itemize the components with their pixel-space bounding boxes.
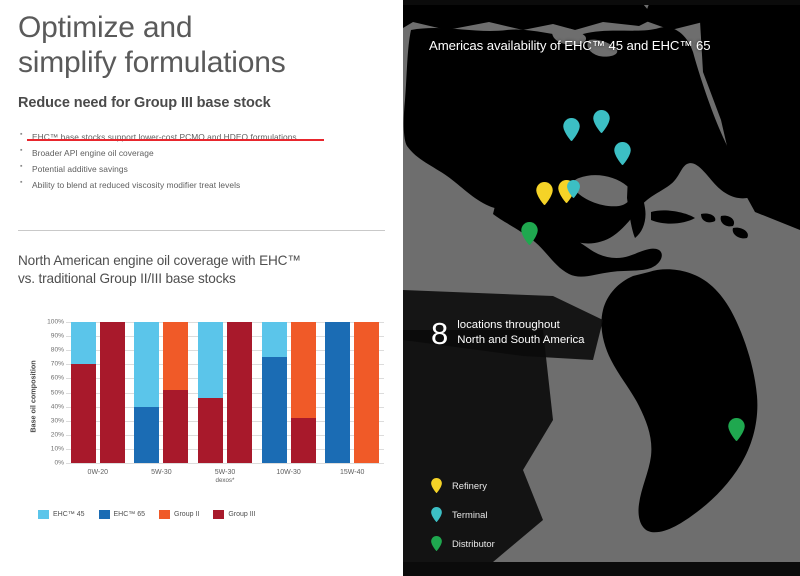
chart-bar-group [320, 322, 384, 463]
map-location-pin[interactable] [567, 180, 580, 198]
map-pin-icon [431, 507, 442, 522]
chart-bar-segment[interactable] [71, 322, 96, 364]
chart-x-tick-sublabel: dexos* [193, 477, 257, 485]
chart-y-tick-label: 50% [51, 389, 64, 396]
chart-bar[interactable] [291, 322, 316, 463]
map-pin-icon [431, 536, 442, 551]
chart-bar-segment[interactable] [163, 322, 188, 390]
locations-count: 8 [431, 319, 448, 348]
chart-bar-segment[interactable] [198, 398, 223, 463]
chart-legend-item[interactable]: Group III [213, 510, 255, 519]
chart-y-tick-label: 20% [51, 431, 64, 438]
chart-legend-item[interactable]: Group II [159, 510, 199, 519]
chart-x-tick-label: 0W-20 [66, 468, 130, 485]
page-title: Optimize and simplify formulations [18, 10, 385, 81]
map-pin-icon [431, 478, 442, 493]
chart-legend-swatch [99, 510, 110, 519]
chart-legend-label: EHC™ 65 [114, 511, 146, 518]
locations-description-line2: North and South America [457, 333, 584, 348]
chart-bar-segment[interactable] [262, 322, 287, 357]
chart-bar-group [130, 322, 194, 463]
bar-chart: Base oil composition 100%90%80%70%60%50%… [8, 314, 398, 554]
map-location-pin[interactable] [728, 418, 745, 441]
map-legend-label: Terminal [452, 509, 487, 520]
map-location-pin[interactable] [536, 182, 553, 205]
map-legend-item[interactable]: Distributor [431, 536, 495, 551]
map-pin-icon [563, 118, 580, 141]
map-legend: RefineryTerminalDistributor [431, 478, 495, 565]
chart-bar-segment[interactable] [71, 364, 96, 463]
map-legend-label: Distributor [452, 538, 495, 549]
chart-legend-label: Group II [174, 511, 199, 518]
chart-bar-segment[interactable] [291, 322, 316, 418]
chart-bar[interactable] [134, 322, 159, 463]
chart-y-tick-label: 10% [51, 445, 64, 452]
chart-bar[interactable] [198, 322, 223, 463]
map-panel: Americas availability of EHC™ 45 and EHC… [403, 0, 800, 576]
chart-legend-label: EHC™ 45 [53, 511, 85, 518]
chart-bar-segment[interactable] [100, 322, 125, 463]
list-item: Potential additive savings [18, 163, 385, 175]
map-pin-icon [521, 222, 538, 245]
chart-title: North American engine oil coverage with … [18, 252, 378, 288]
chart-bar-group [66, 322, 130, 463]
chart-bar[interactable] [227, 322, 252, 463]
chart-y-tick-label: 100% [47, 319, 64, 326]
map-pin-icon [614, 142, 631, 165]
chart-bar-segment[interactable] [262, 357, 287, 463]
chart-gridline [66, 463, 384, 464]
map-pin-icon [728, 418, 745, 441]
slide-root: Optimize and simplify formulations Reduc… [0, 0, 800, 576]
chart-bar[interactable] [325, 322, 350, 463]
map-pin-icon [431, 478, 442, 493]
map-pin-icon [431, 507, 442, 522]
chart-y-tick-label: 40% [51, 403, 64, 410]
chart-bar-segment[interactable] [325, 322, 350, 463]
map-location-pin[interactable] [614, 142, 631, 165]
list-item: Broader API engine oil coverage [18, 147, 385, 159]
chart-y-tick-label: 70% [51, 361, 64, 368]
chart-bar-segment[interactable] [198, 322, 223, 398]
chart-bar[interactable] [100, 322, 125, 463]
chart-bar-segment[interactable] [227, 322, 252, 463]
page-subtitle: Reduce need for Group III base stock [18, 95, 385, 111]
chart-bar[interactable] [71, 322, 96, 463]
highlight-underline [27, 139, 324, 141]
locations-stat: 8 locations throughout North and South A… [431, 318, 585, 348]
map-location-pin[interactable] [593, 110, 610, 133]
map-legend-item[interactable]: Refinery [431, 478, 495, 493]
map-location-pin[interactable] [521, 222, 538, 245]
section-divider [18, 230, 385, 231]
list-item: EHC™ base stocks support lower-cost PCMO… [18, 131, 385, 143]
map-legend-label: Refinery [452, 480, 487, 491]
chart-y-tick-label: 60% [51, 375, 64, 382]
chart-bar-segment[interactable] [291, 418, 316, 463]
chart-legend-item[interactable]: EHC™ 65 [99, 510, 146, 519]
chart-bar-segment[interactable] [134, 407, 159, 463]
chart-title-line2: vs. traditional Group II/III base stocks [18, 270, 378, 288]
map-pin-icon [431, 536, 442, 551]
map-legend-item[interactable]: Terminal [431, 507, 495, 522]
chart-y-tick-label: 30% [51, 417, 64, 424]
page-title-line2: simplify formulations [18, 45, 385, 80]
chart-bar-segment[interactable] [354, 322, 379, 463]
chart-bar-group [193, 322, 257, 463]
map-pin-icon [567, 180, 580, 198]
chart-bar[interactable] [163, 322, 188, 463]
chart-bar-groups [66, 322, 384, 463]
map-title: Americas availability of EHC™ 45 and EHC… [429, 38, 710, 53]
map-pin-icon [536, 182, 553, 205]
chart-legend-swatch [213, 510, 224, 519]
chart-x-axis-ticks: 0W-205W-305W-30dexos*10W-3015W-40 [66, 468, 384, 485]
chart-y-tick-label: 80% [51, 347, 64, 354]
chart-bar[interactable] [354, 322, 379, 463]
list-item: Ability to blend at reduced viscosity mo… [18, 179, 385, 191]
chart-x-tick-label: 5W-30 [130, 468, 194, 485]
page-title-line1: Optimize and [18, 10, 385, 45]
map-pin-icon [593, 110, 610, 133]
chart-y-tick-label: 90% [51, 333, 64, 340]
chart-legend-swatch [159, 510, 170, 519]
locations-description: locations throughout North and South Ame… [457, 318, 584, 347]
chart-bar[interactable] [262, 322, 287, 463]
chart-bar-segment[interactable] [134, 322, 159, 407]
chart-bar-segment[interactable] [163, 390, 188, 463]
chart-legend-item[interactable]: EHC™ 45 [38, 510, 85, 519]
chart-y-axis-ticks: 100%90%80%70%60%50%40%30%20%10%0% [30, 322, 64, 463]
chart-x-tick-label: 15W-40 [320, 468, 384, 485]
chart-legend-label: Group III [228, 511, 255, 518]
chart-title-line1: North American engine oil coverage with … [18, 252, 378, 270]
chart-legend: EHC™ 45EHC™ 65Group IIGroup III [38, 510, 256, 519]
chart-x-tick-label: 5W-30dexos* [193, 468, 257, 485]
chart-y-tick-label: 0% [54, 460, 64, 467]
chart-x-tick-label: 10W-30 [257, 468, 321, 485]
chart-legend-swatch [38, 510, 49, 519]
left-content-panel: Optimize and simplify formulations Reduc… [0, 0, 403, 576]
map-location-pin[interactable] [563, 118, 580, 141]
chart-bar-group [257, 322, 321, 463]
locations-description-line1: locations throughout [457, 318, 584, 333]
